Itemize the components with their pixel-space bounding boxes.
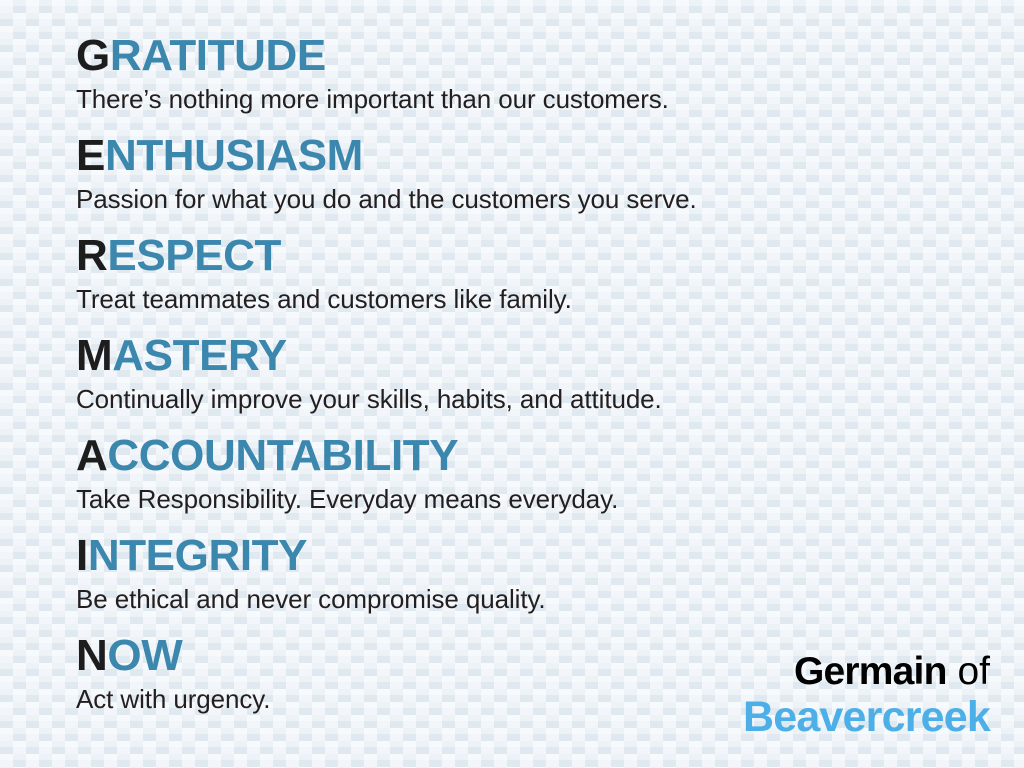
- value-description-gratitude: There’s nothing more important than our …: [76, 82, 976, 116]
- logo-brand-name: Germain: [794, 650, 947, 693]
- value-heading-integrity: INTEGRITY: [76, 530, 976, 582]
- value-initial-letter: A: [76, 431, 107, 480]
- value-row: RESPECT Treat teammates and customers li…: [76, 230, 976, 330]
- value-heading-accountability: ACCOUNTABILITY: [76, 430, 976, 482]
- values-poster: GRATITUDE There’s nothing more important…: [0, 0, 1024, 768]
- value-description-respect: Treat teammates and customers like famil…: [76, 282, 976, 316]
- value-row: ACCOUNTABILITY Take Responsibility. Ever…: [76, 430, 976, 530]
- value-initial-letter: M: [76, 331, 112, 380]
- value-description-accountability: Take Responsibility. Everyday means ever…: [76, 482, 976, 516]
- value-row: MASTERY Continually improve your skills,…: [76, 330, 976, 430]
- value-heading-gratitude: GRATITUDE: [76, 30, 976, 82]
- value-row: GRATITUDE There’s nothing more important…: [76, 30, 976, 130]
- value-remaining-letters: CCOUNTABILITY: [107, 431, 458, 480]
- value-description-integrity: Be ethical and never compromise quality.: [76, 582, 976, 616]
- logo-location-name: Beavercreek: [743, 694, 990, 740]
- value-remaining-letters: ASTERY: [112, 331, 286, 380]
- value-initial-letter: E: [76, 131, 105, 180]
- core-values-list: GRATITUDE There’s nothing more important…: [76, 30, 976, 730]
- value-remaining-letters: NTEGRITY: [88, 531, 307, 580]
- value-initial-letter: G: [76, 31, 110, 80]
- value-row: ENTHUSIASM Passion for what you do and t…: [76, 130, 976, 230]
- value-remaining-letters: OW: [107, 631, 182, 680]
- value-heading-mastery: MASTERY: [76, 330, 976, 382]
- value-initial-letter: R: [76, 231, 107, 280]
- value-heading-respect: RESPECT: [76, 230, 976, 282]
- value-heading-enthusiasm: ENTHUSIASM: [76, 130, 976, 182]
- value-remaining-letters: ESPECT: [107, 231, 281, 280]
- logo-connector-word: of: [947, 650, 990, 693]
- value-description-enthusiasm: Passion for what you do and the customer…: [76, 182, 976, 216]
- logo-primary-line: Germain of: [743, 651, 990, 693]
- value-description-mastery: Continually improve your skills, habits,…: [76, 382, 976, 416]
- value-initial-letter: N: [76, 631, 107, 680]
- value-remaining-letters: NTHUSIASM: [105, 131, 363, 180]
- value-initial-letter: I: [76, 531, 88, 580]
- dealership-logo: Germain of Beavercreek: [743, 651, 990, 740]
- value-remaining-letters: RATITUDE: [110, 31, 326, 80]
- value-row: INTEGRITY Be ethical and never compromis…: [76, 530, 976, 630]
